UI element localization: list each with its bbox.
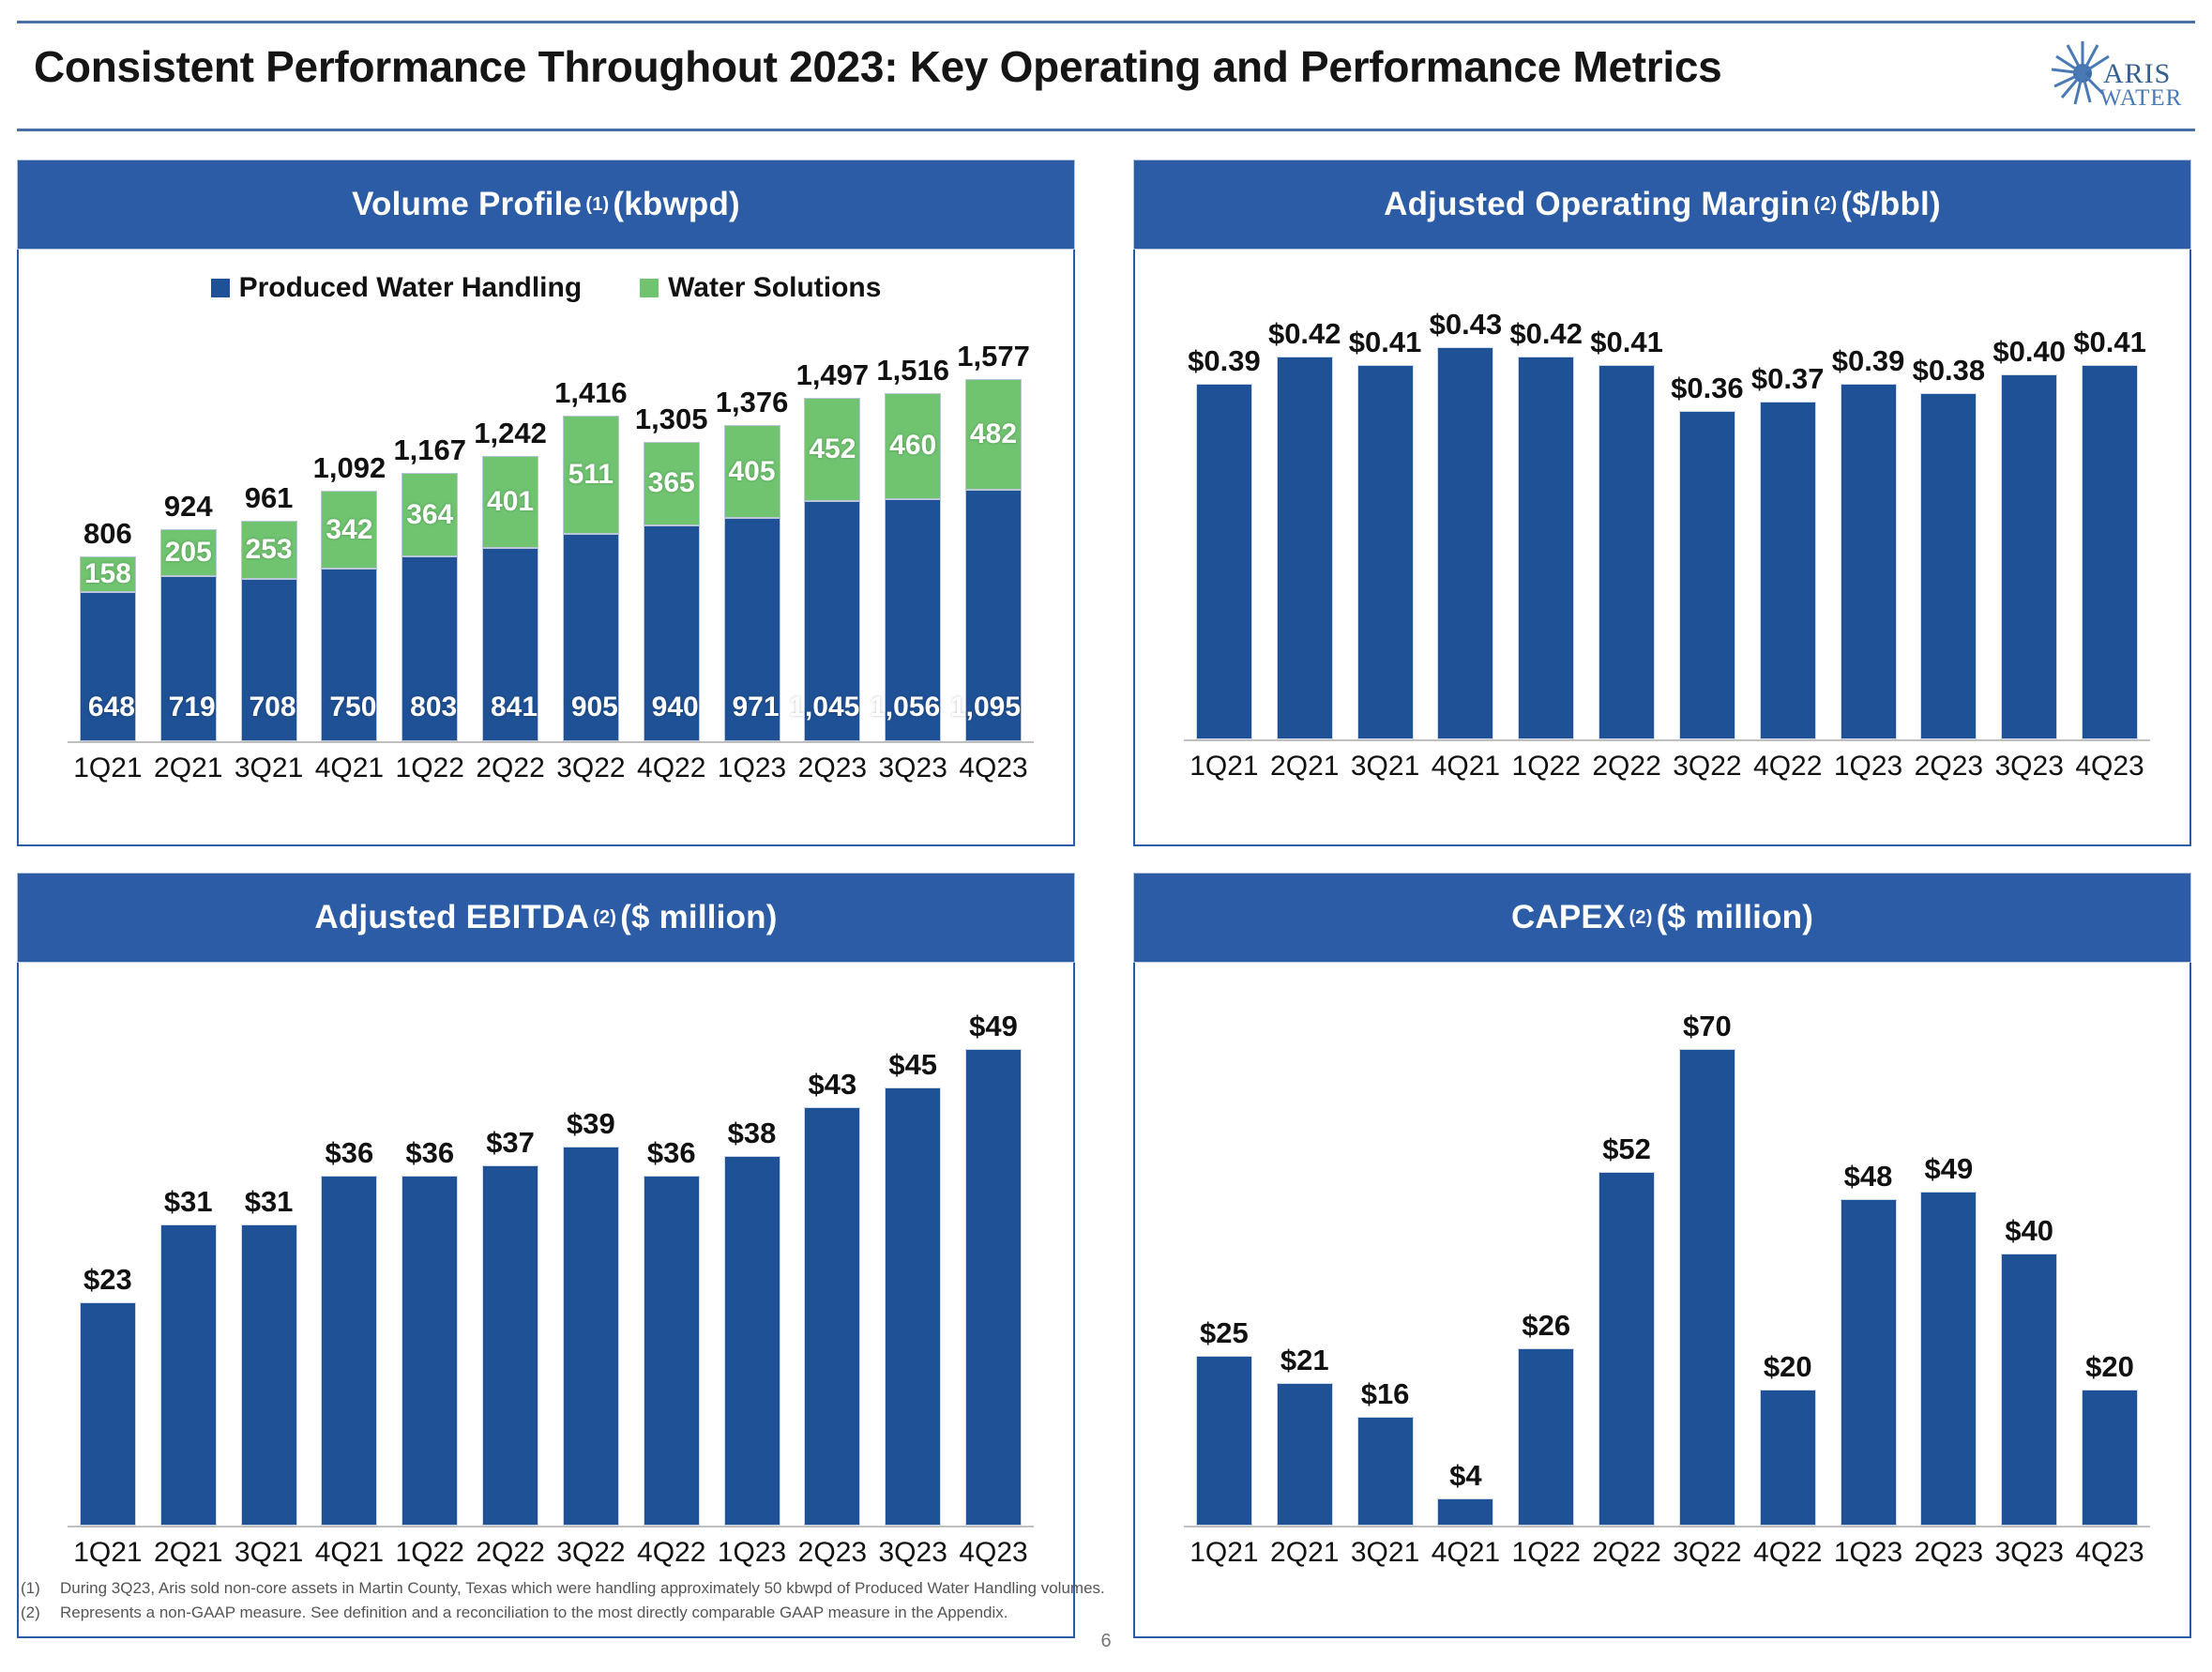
x-tick-label-3q22: 3Q22 (551, 1537, 631, 1569)
bar[interactable] (1598, 1172, 1655, 1526)
bar[interactable] (1760, 1390, 1816, 1526)
bar-value-label: $0.36 (1671, 372, 1744, 405)
x-tick-label-3q23: 3Q23 (1989, 1537, 2069, 1569)
bar[interactable] (885, 1087, 941, 1526)
bar-column-4q23[interactable]: $49 (953, 1000, 1034, 1526)
bar-value-label: $70 (1683, 1010, 1732, 1043)
bar-value-label: $25 (1200, 1316, 1249, 1350)
footnotes: (1) During 3Q23, Aris sold non-core asse… (21, 1576, 1428, 1626)
ebitda-x-axis-line (68, 1526, 1034, 1528)
bar-segment-water-solutions[interactable]: 401 (482, 456, 538, 548)
bar-value-label: $0.37 (1751, 362, 1825, 396)
bar-segment-water-solutions[interactable]: 365 (644, 442, 700, 525)
footnote-2-text: Represents a non-GAAP measure. See defin… (60, 1601, 1008, 1625)
stacked-bar[interactable]: 342750 (321, 491, 377, 741)
bar-segment-produced-water-handling[interactable]: 750 (321, 569, 377, 741)
bar[interactable] (1518, 1348, 1574, 1526)
bar-segment-label: 1,095 (950, 692, 1021, 723)
bar[interactable] (1518, 357, 1574, 739)
bar-column-4q23[interactable]: $20 (2069, 1000, 2150, 1526)
margin-chart: $0.39$0.42$0.41$0.43$0.42$0.41$0.36$0.37… (1135, 250, 2189, 844)
x-tick-label-4q22: 4Q22 (1748, 1537, 1828, 1569)
header-rule-top (17, 21, 2195, 23)
bar[interactable] (1920, 1192, 1977, 1526)
bar-segment-label: 511 (568, 459, 614, 491)
bar-value-label: $38 (728, 1117, 777, 1150)
bar-total-label: 1,092 (313, 451, 386, 485)
bar-segment-label: 1,045 (789, 692, 859, 723)
x-tick-label-1q21: 1Q21 (1184, 1537, 1265, 1569)
bar-column-4q23[interactable]: 1,5774821,095 (953, 336, 1034, 741)
bar[interactable] (965, 1049, 1022, 1526)
bar-column-2q21[interactable]: $21 (1265, 1000, 1345, 1526)
aris-water-logo: ARIS WATER (2045, 34, 2186, 120)
panel-volume-title-text: Volume Profile (352, 186, 582, 223)
bar-segment-label: 905 (571, 692, 618, 723)
x-tick-label-2q21: 2Q21 (148, 1537, 229, 1569)
bar-column-4q21[interactable]: $36 (309, 1000, 389, 1526)
volume-legend: Produced Water Handling Water Solutions (19, 272, 1073, 304)
x-tick-label-1q22: 1Q22 (1506, 1537, 1586, 1569)
panel-capex-title: CAPEX (2) ($ million) (1133, 873, 2191, 963)
panel-ebitda-unit: ($ million) (620, 899, 777, 936)
bar-segment-label: 253 (246, 534, 293, 566)
x-tick-label-4q22: 4Q22 (1748, 751, 1828, 783)
bar-total-label: 924 (164, 490, 213, 524)
bar[interactable] (2001, 374, 2057, 739)
bar-value-label: $0.38 (1913, 354, 1986, 388)
bar-value-label: $0.40 (1992, 335, 2066, 369)
bar-segment-produced-water-handling[interactable]: 1,045 (804, 501, 860, 741)
x-tick-label-2q22: 2Q22 (1586, 1537, 1667, 1569)
bar-column-3q21[interactable]: 961253708 (229, 336, 310, 741)
bar[interactable] (1357, 365, 1414, 739)
bar-total-label: 1,497 (796, 358, 870, 392)
bar-value-label: $49 (969, 1010, 1018, 1043)
bar[interactable] (1841, 384, 1897, 739)
x-tick-label-2q23: 2Q23 (1908, 751, 1989, 783)
header-rule-bottom (17, 129, 2195, 131)
legend-swatch-blue (211, 279, 230, 297)
bar[interactable] (1679, 411, 1735, 739)
footnote-1-text: During 3Q23, Aris sold non-core assets i… (60, 1576, 1105, 1601)
bar-segment-label: 364 (406, 499, 453, 531)
panel-volume-footnote-ref: (1) (585, 194, 609, 216)
bar-value-label: $39 (567, 1107, 615, 1141)
x-tick-label-3q21: 3Q21 (229, 1537, 310, 1569)
bar-column-3q23[interactable]: 1,5164601,056 (872, 336, 953, 741)
bar-segment-label: 460 (889, 430, 936, 462)
bar-value-label: $0.42 (1268, 317, 1341, 351)
bar-segment-produced-water-handling[interactable]: 940 (644, 525, 700, 741)
bar-segment-water-solutions[interactable]: 460 (885, 393, 941, 499)
bar-total-label: 1,242 (474, 417, 547, 450)
bar-column-1q22[interactable]: $26 (1506, 1000, 1586, 1526)
bar-value-label: $0.43 (1430, 308, 1503, 342)
stacked-bar[interactable]: 511905 (563, 416, 619, 741)
bar-total-label: 1,516 (876, 354, 949, 388)
panel-capex-body: $25$21$16$4$26$52$70$20$48$49$40$20 1Q21… (1133, 963, 2191, 1638)
x-tick-label-4q21: 4Q21 (309, 1537, 389, 1569)
bar-column-2q21[interactable]: 924205719 (148, 336, 229, 741)
x-tick-label-3q23: 3Q23 (872, 1537, 953, 1569)
bar-total-label: 1,376 (716, 386, 789, 419)
x-tick-label-2q22: 2Q22 (1586, 751, 1667, 783)
bar-column-2q23[interactable]: $43 (792, 1000, 872, 1526)
bar-value-label: $31 (164, 1185, 213, 1219)
x-tick-label-4q21: 4Q21 (1425, 751, 1506, 783)
bar[interactable] (1598, 365, 1655, 739)
bar[interactable] (1920, 393, 1977, 739)
ebitda-x-axis-labels: 1Q212Q213Q214Q211Q222Q223Q224Q221Q232Q23… (68, 1537, 1034, 1569)
bar-segment-label: 750 (329, 692, 376, 723)
x-tick-label-4q22: 4Q22 (631, 1537, 712, 1569)
page-number: 6 (0, 1631, 2212, 1652)
bar-column-1q21[interactable]: 806158648 (68, 336, 148, 741)
bar-segment-label: 205 (165, 537, 212, 569)
panel-margin-title-text: Adjusted Operating Margin (1384, 186, 1810, 223)
bar-value-label: $20 (1764, 1350, 1812, 1384)
legend-label-water-solutions: Water Solutions (668, 272, 881, 304)
bar[interactable] (321, 1176, 377, 1526)
bar-segment-water-solutions[interactable]: 405 (724, 425, 780, 518)
bar[interactable] (2082, 1390, 2138, 1526)
bar-value-label: $43 (809, 1068, 857, 1102)
bar-column-4q21[interactable]: 1,092342750 (309, 336, 389, 741)
bar-value-label: $36 (647, 1136, 696, 1170)
panel-ebitda-title-text: Adjusted EBITDA (314, 899, 589, 936)
bar-column-3q23[interactable]: $45 (872, 1000, 953, 1526)
bar[interactable] (1196, 384, 1252, 739)
panel-margin-footnote-ref: (2) (1813, 194, 1837, 216)
x-tick-label-3q23: 3Q23 (1989, 751, 2069, 783)
bar-value-label: $0.42 (1509, 317, 1583, 351)
x-tick-label-4q22: 4Q22 (631, 752, 712, 784)
x-tick-label-1q21: 1Q21 (1184, 751, 1265, 783)
bar-total-label: 1,305 (635, 403, 708, 436)
legend-item-produced-water-handling: Produced Water Handling (211, 272, 583, 304)
bar-value-label: $36 (326, 1136, 374, 1170)
bar-column-1q23[interactable]: $48 (1828, 1000, 1909, 1526)
stacked-bar[interactable]: 205719 (160, 529, 217, 741)
bar[interactable] (1277, 1383, 1333, 1526)
footnote-1-number: (1) (21, 1576, 47, 1601)
panel-volume-title: Volume Profile (1) (kbwpd) (17, 160, 1075, 250)
margin-x-axis-line (1184, 739, 2150, 741)
bar[interactable] (804, 1107, 860, 1526)
footnote-2: (2) Represents a non-GAAP measure. See d… (21, 1601, 1428, 1625)
stacked-bar[interactable]: 364803 (401, 473, 458, 741)
bar-value-label: $0.41 (2073, 326, 2146, 359)
bar-segment-water-solutions[interactable]: 452 (804, 398, 860, 502)
bar-column-3q22[interactable]: $39 (551, 1000, 631, 1526)
x-tick-label-2q23: 2Q23 (1908, 1537, 1989, 1569)
x-tick-label-2q21: 2Q21 (1265, 751, 1345, 783)
bar-value-label: $4 (1449, 1459, 1481, 1493)
legend-item-water-solutions: Water Solutions (640, 272, 881, 304)
panel-margin-title: Adjusted Operating Margin (2) ($/bbl) (1133, 160, 2191, 250)
x-tick-label-1q23: 1Q23 (1828, 751, 1909, 783)
capex-x-axis-labels: 1Q212Q213Q214Q211Q222Q223Q224Q221Q232Q23… (1184, 1537, 2150, 1569)
bar-column-1q22[interactable]: $36 (389, 1000, 470, 1526)
ebitda-chart: $23$31$31$36$36$37$39$36$38$43$45$49 1Q2… (19, 963, 1073, 1636)
panel-volume-body: Produced Water Handling Water Solutions … (17, 250, 1075, 846)
bar-segment-water-solutions[interactable]: 364 (401, 473, 458, 556)
bar-segment-water-solutions[interactable]: 205 (160, 529, 217, 576)
bar-column-3q21[interactable]: $31 (229, 1000, 310, 1526)
ebitda-plot-area: $23$31$31$36$36$37$39$36$38$43$45$49 (68, 1000, 1034, 1526)
bar[interactable] (482, 1165, 538, 1526)
stacked-bar[interactable]: 401841 (482, 456, 538, 741)
bar-column-1q23[interactable]: $0.39 (1828, 298, 1909, 739)
bar-segment-produced-water-handling[interactable]: 719 (160, 576, 217, 741)
page-title: Consistent Performance Throughout 2023: … (34, 41, 1721, 92)
bar-segment-produced-water-handling[interactable]: 971 (724, 518, 780, 741)
bar-segment-produced-water-handling[interactable]: 841 (482, 548, 538, 741)
x-tick-label-1q21: 1Q21 (68, 752, 148, 784)
panel-volume-unit: (kbwpd) (613, 186, 740, 223)
margin-x-axis-labels: 1Q212Q213Q214Q211Q222Q223Q224Q221Q232Q23… (1184, 751, 2150, 783)
bar-segment-label: 405 (729, 456, 776, 488)
x-tick-label-1q22: 1Q22 (1506, 751, 1586, 783)
bar[interactable] (80, 1302, 136, 1526)
bar-value-label: $49 (1925, 1152, 1974, 1186)
bar-column-3q22[interactable]: $70 (1667, 1000, 1748, 1526)
bar-total-label: 1,416 (554, 376, 628, 410)
bar[interactable] (1760, 402, 1816, 739)
bar-column-1q23[interactable]: 1,376405971 (712, 336, 793, 741)
bar-segment-label: 482 (970, 418, 1017, 450)
x-tick-label-2q22: 2Q22 (470, 752, 551, 784)
bar-segment-label: 365 (648, 467, 695, 499)
bar-column-1q21[interactable]: $0.39 (1184, 298, 1265, 739)
bar-value-label: $26 (1522, 1309, 1570, 1343)
bar-value-label: $20 (2085, 1350, 2134, 1384)
x-tick-label-2q21: 2Q21 (148, 752, 229, 784)
bar-segment-label: 1,056 (870, 692, 940, 723)
bar-column-2q23[interactable]: $0.38 (1908, 298, 1989, 739)
bar-segment-water-solutions[interactable]: 158 (80, 556, 136, 593)
bar-column-4q22[interactable]: $20 (1748, 1000, 1828, 1526)
bar-value-label: $31 (245, 1185, 294, 1219)
x-tick-label-1q23: 1Q23 (1828, 1537, 1909, 1569)
bar-column-3q22[interactable]: 1,416511905 (551, 336, 631, 741)
bar-segment-produced-water-handling[interactable]: 1,095 (965, 490, 1022, 741)
bar-column-1q22[interactable]: 1,167364803 (389, 336, 470, 741)
legend-label-produced-water-handling: Produced Water Handling (239, 272, 583, 304)
bar-segment-water-solutions[interactable]: 342 (321, 491, 377, 570)
x-tick-label-4q23: 4Q23 (953, 752, 1034, 784)
panel-capex-footnote-ref: (2) (1629, 907, 1653, 929)
bar-value-label: $36 (405, 1136, 454, 1170)
bar-segment-label: 803 (410, 692, 457, 723)
x-tick-label-1q22: 1Q22 (389, 1537, 470, 1569)
bar-column-4q22[interactable]: 1,305365940 (631, 336, 712, 741)
bar-segment-water-solutions[interactable]: 482 (965, 379, 1022, 490)
bar-segment-label: 158 (84, 558, 131, 590)
bar[interactable] (401, 1176, 458, 1526)
bar[interactable] (241, 1224, 297, 1526)
bar-column-3q21[interactable]: $0.41 (1345, 298, 1426, 739)
panel-capex-title-text: CAPEX (1511, 899, 1626, 936)
capex-chart: $25$21$16$4$26$52$70$20$48$49$40$20 1Q21… (1135, 963, 2189, 1636)
svg-text:WATER: WATER (2099, 85, 2182, 111)
bar-segment-label: 401 (487, 486, 534, 518)
bar[interactable] (1437, 347, 1493, 739)
bar-segment-label: 841 (491, 692, 538, 723)
panel-ebitda-title: Adjusted EBITDA (2) ($ million) (17, 873, 1075, 963)
bar-column-1q23[interactable]: $38 (712, 1000, 793, 1526)
bar[interactable] (1277, 357, 1333, 739)
bar-total-label: 1,167 (393, 433, 466, 467)
bar-column-3q23[interactable]: $40 (1989, 1000, 2069, 1526)
bar-column-2q22[interactable]: $0.41 (1586, 298, 1667, 739)
x-tick-label-1q21: 1Q21 (68, 1537, 148, 1569)
volume-chart: 8061586489242057199612537081,0923427501,… (19, 250, 1073, 844)
bar-value-label: $0.39 (1188, 344, 1261, 378)
bar-segment-produced-water-handling[interactable]: 1,056 (885, 499, 941, 741)
bar-segment-label: 342 (326, 514, 372, 546)
bar-value-label: $0.39 (1832, 344, 1905, 378)
bar-segment-produced-water-handling[interactable]: 708 (241, 579, 297, 741)
footnote-2-number: (2) (21, 1601, 47, 1625)
x-tick-label-3q23: 3Q23 (872, 752, 953, 784)
footnote-1: (1) During 3Q23, Aris sold non-core asse… (21, 1576, 1428, 1601)
stacked-bar[interactable]: 405971 (724, 425, 780, 741)
bar-column-3q23[interactable]: $0.40 (1989, 298, 2069, 739)
stacked-bar[interactable]: 365940 (644, 442, 700, 741)
bar[interactable] (160, 1224, 217, 1526)
bar-column-1q22[interactable]: $0.42 (1506, 298, 1586, 739)
bar-column-4q23[interactable]: $0.41 (2069, 298, 2150, 739)
bar-column-2q22[interactable]: 1,242401841 (470, 336, 551, 741)
bar-column-4q22[interactable]: $0.37 (1748, 298, 1828, 739)
bar-value-label: $0.41 (1590, 326, 1663, 359)
bar[interactable] (1841, 1199, 1897, 1526)
bar-column-2q23[interactable]: $49 (1908, 1000, 1989, 1526)
x-tick-label-3q21: 3Q21 (1345, 751, 1426, 783)
panel-adjusted-operating-margin: Adjusted Operating Margin (2) ($/bbl) $0… (1133, 160, 2191, 846)
x-tick-label-2q23: 2Q23 (792, 752, 872, 784)
bar[interactable] (1437, 1498, 1493, 1526)
x-tick-label-3q21: 3Q21 (229, 752, 310, 784)
bar[interactable] (724, 1156, 780, 1526)
stacked-bar[interactable]: 158648 (80, 556, 136, 741)
bar-column-2q21[interactable]: $0.42 (1265, 298, 1345, 739)
bar-value-label: $0.41 (1349, 326, 1422, 359)
bar-segment-label: 971 (732, 692, 779, 723)
margin-plot-area: $0.39$0.42$0.41$0.43$0.42$0.41$0.36$0.37… (1184, 298, 2150, 739)
x-tick-label-3q21: 3Q21 (1345, 1537, 1426, 1569)
bar-column-1q21[interactable]: $23 (68, 1000, 148, 1526)
bar-segment-label: 719 (169, 692, 216, 723)
bar[interactable] (2001, 1254, 2057, 1526)
bar-segment-water-solutions[interactable]: 511 (563, 416, 619, 533)
stacked-bar[interactable]: 4521,045 (804, 398, 860, 741)
stacked-bar[interactable]: 4601,056 (885, 393, 941, 741)
bar-column-3q21[interactable]: $16 (1345, 1000, 1426, 1526)
bar-column-2q22[interactable]: $52 (1586, 1000, 1667, 1526)
bar-segment-produced-water-handling[interactable]: 648 (80, 592, 136, 741)
panel-ebitda-footnote-ref: (2) (593, 907, 616, 929)
bar-value-label: $45 (888, 1048, 937, 1082)
bar-value-label: $23 (83, 1263, 132, 1297)
bar-value-label: $52 (1602, 1132, 1651, 1166)
panel-margin-body: $0.39$0.42$0.41$0.43$0.42$0.41$0.36$0.37… (1133, 250, 2191, 846)
x-tick-label-3q22: 3Q22 (1667, 1537, 1748, 1569)
x-tick-label-4q23: 4Q23 (2069, 1537, 2150, 1569)
bar[interactable] (2082, 365, 2138, 739)
panel-capex: CAPEX (2) ($ million) $25$21$16$4$26$52$… (1133, 873, 2191, 1638)
x-tick-label-2q23: 2Q23 (792, 1537, 872, 1569)
bar-column-3q22[interactable]: $0.36 (1667, 298, 1748, 739)
capex-x-axis-line (1184, 1526, 2150, 1528)
bar-column-4q21[interactable]: $0.43 (1425, 298, 1506, 739)
panel-ebitda-body: $23$31$31$36$36$37$39$36$38$43$45$49 1Q2… (17, 963, 1075, 1638)
bar-column-2q23[interactable]: 1,4974521,045 (792, 336, 872, 741)
x-tick-label-3q22: 3Q22 (551, 752, 631, 784)
x-tick-label-4q21: 4Q21 (1425, 1537, 1506, 1569)
bar-segment-label: 452 (809, 433, 856, 465)
panel-margin-unit: ($/bbl) (1841, 186, 1940, 223)
x-tick-label-4q21: 4Q21 (309, 752, 389, 784)
bar-total-label: 961 (245, 481, 294, 515)
stacked-bar[interactable]: 4821,095 (965, 379, 1022, 741)
x-tick-label-1q23: 1Q23 (712, 1537, 793, 1569)
bar-segment-label: 648 (88, 692, 135, 723)
bar-segment-label: 940 (652, 692, 699, 723)
capex-plot-area: $25$21$16$4$26$52$70$20$48$49$40$20 (1184, 1000, 2150, 1526)
bar-value-label: $40 (2005, 1214, 2053, 1248)
x-tick-label-4q23: 4Q23 (2069, 751, 2150, 783)
bar-column-4q21[interactable]: $4 (1425, 1000, 1506, 1526)
x-tick-label-1q23: 1Q23 (712, 752, 793, 784)
volume-plot-area: 8061586489242057199612537081,0923427501,… (68, 336, 1034, 741)
bar-total-label: 1,577 (957, 340, 1030, 373)
x-tick-label-3q22: 3Q22 (1667, 751, 1748, 783)
bar[interactable] (1196, 1356, 1252, 1526)
bar[interactable] (563, 1147, 619, 1526)
bar-total-label: 806 (83, 517, 132, 551)
bar[interactable] (644, 1176, 700, 1526)
panel-capex-unit: ($ million) (1657, 899, 1813, 936)
bar[interactable] (1357, 1417, 1414, 1526)
volume-x-axis-line (68, 741, 1034, 743)
bar-value-label: $16 (1361, 1377, 1410, 1411)
bar-value-label: $48 (1844, 1160, 1893, 1193)
bar-value-label: $37 (486, 1126, 535, 1160)
bar-column-4q22[interactable]: $36 (631, 1000, 712, 1526)
stacked-bar[interactable]: 253708 (241, 521, 297, 741)
x-tick-label-1q22: 1Q22 (389, 752, 470, 784)
panel-adjusted-ebitda: Adjusted EBITDA (2) ($ million) $23$31$3… (17, 873, 1075, 1638)
bar-value-label: $21 (1280, 1344, 1329, 1377)
bar-segment-produced-water-handling[interactable]: 905 (563, 534, 619, 742)
volume-x-axis-labels: 1Q212Q213Q214Q211Q222Q223Q224Q221Q232Q23… (68, 752, 1034, 784)
bar[interactable] (1679, 1049, 1735, 1526)
bar-column-2q22[interactable]: $37 (470, 1000, 551, 1526)
bar-column-2q21[interactable]: $31 (148, 1000, 229, 1526)
legend-swatch-green (640, 279, 659, 297)
x-tick-label-2q21: 2Q21 (1265, 1537, 1345, 1569)
bar-segment-water-solutions[interactable]: 253 (241, 521, 297, 579)
x-tick-label-4q23: 4Q23 (953, 1537, 1034, 1569)
bar-segment-produced-water-handling[interactable]: 803 (401, 556, 458, 741)
panel-volume-profile: Volume Profile (1) (kbwpd) Produced Wate… (17, 160, 1075, 846)
bar-column-1q21[interactable]: $25 (1184, 1000, 1265, 1526)
x-tick-label-2q22: 2Q22 (470, 1537, 551, 1569)
slide: Consistent Performance Throughout 2023: … (0, 0, 2212, 1672)
